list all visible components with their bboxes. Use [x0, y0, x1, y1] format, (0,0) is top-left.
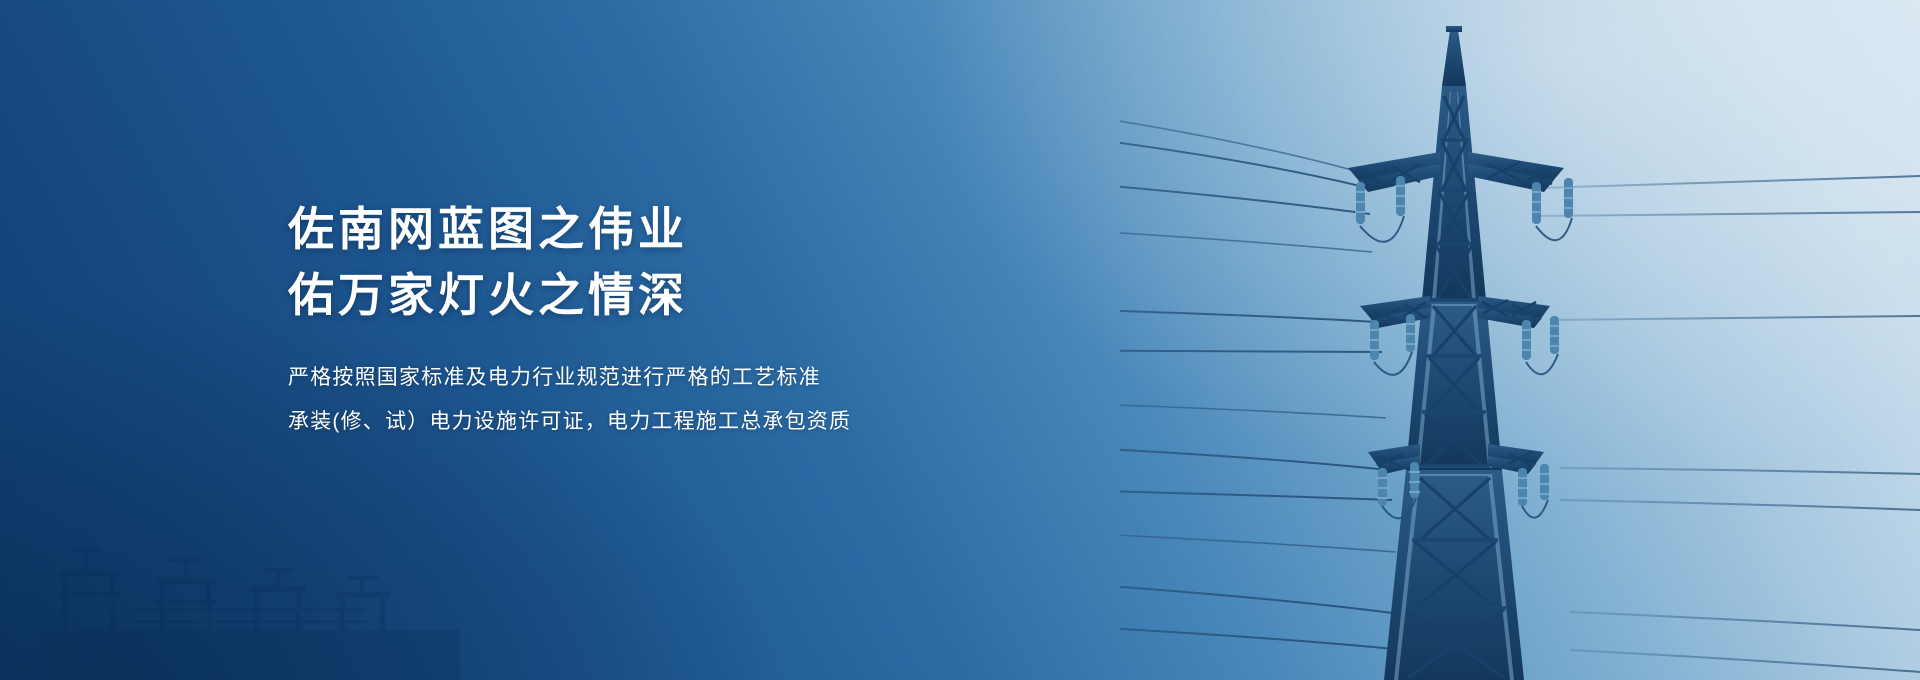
banner-copy: 佐南网蓝图之伟业 佑万家灯火之情深 严格按照国家标准及电力行业规范进行严格的工艺… [288, 196, 1048, 444]
substation-silhouette-icon [40, 480, 460, 680]
subtitle-line-1: 严格按照国家标准及电力行业规范进行严格的工艺标准 [288, 356, 1048, 400]
hero-banner: 佐南网蓝图之伟业 佑万家灯火之情深 严格按照国家标准及电力行业规范进行严格的工艺… [0, 0, 1920, 680]
headline-line-2: 佑万家灯火之情深 [288, 262, 1048, 328]
subtitle-group: 严格按照国家标准及电力行业规范进行严格的工艺标准 承装(修、试）电力设施许可证，… [288, 356, 1048, 444]
headline-line-1: 佐南网蓝图之伟业 [288, 196, 1048, 262]
transmission-tower-icon [1120, 0, 1920, 680]
subtitle-line-2: 承装(修、试）电力设施许可证，电力工程施工总承包资质 [288, 400, 1048, 444]
